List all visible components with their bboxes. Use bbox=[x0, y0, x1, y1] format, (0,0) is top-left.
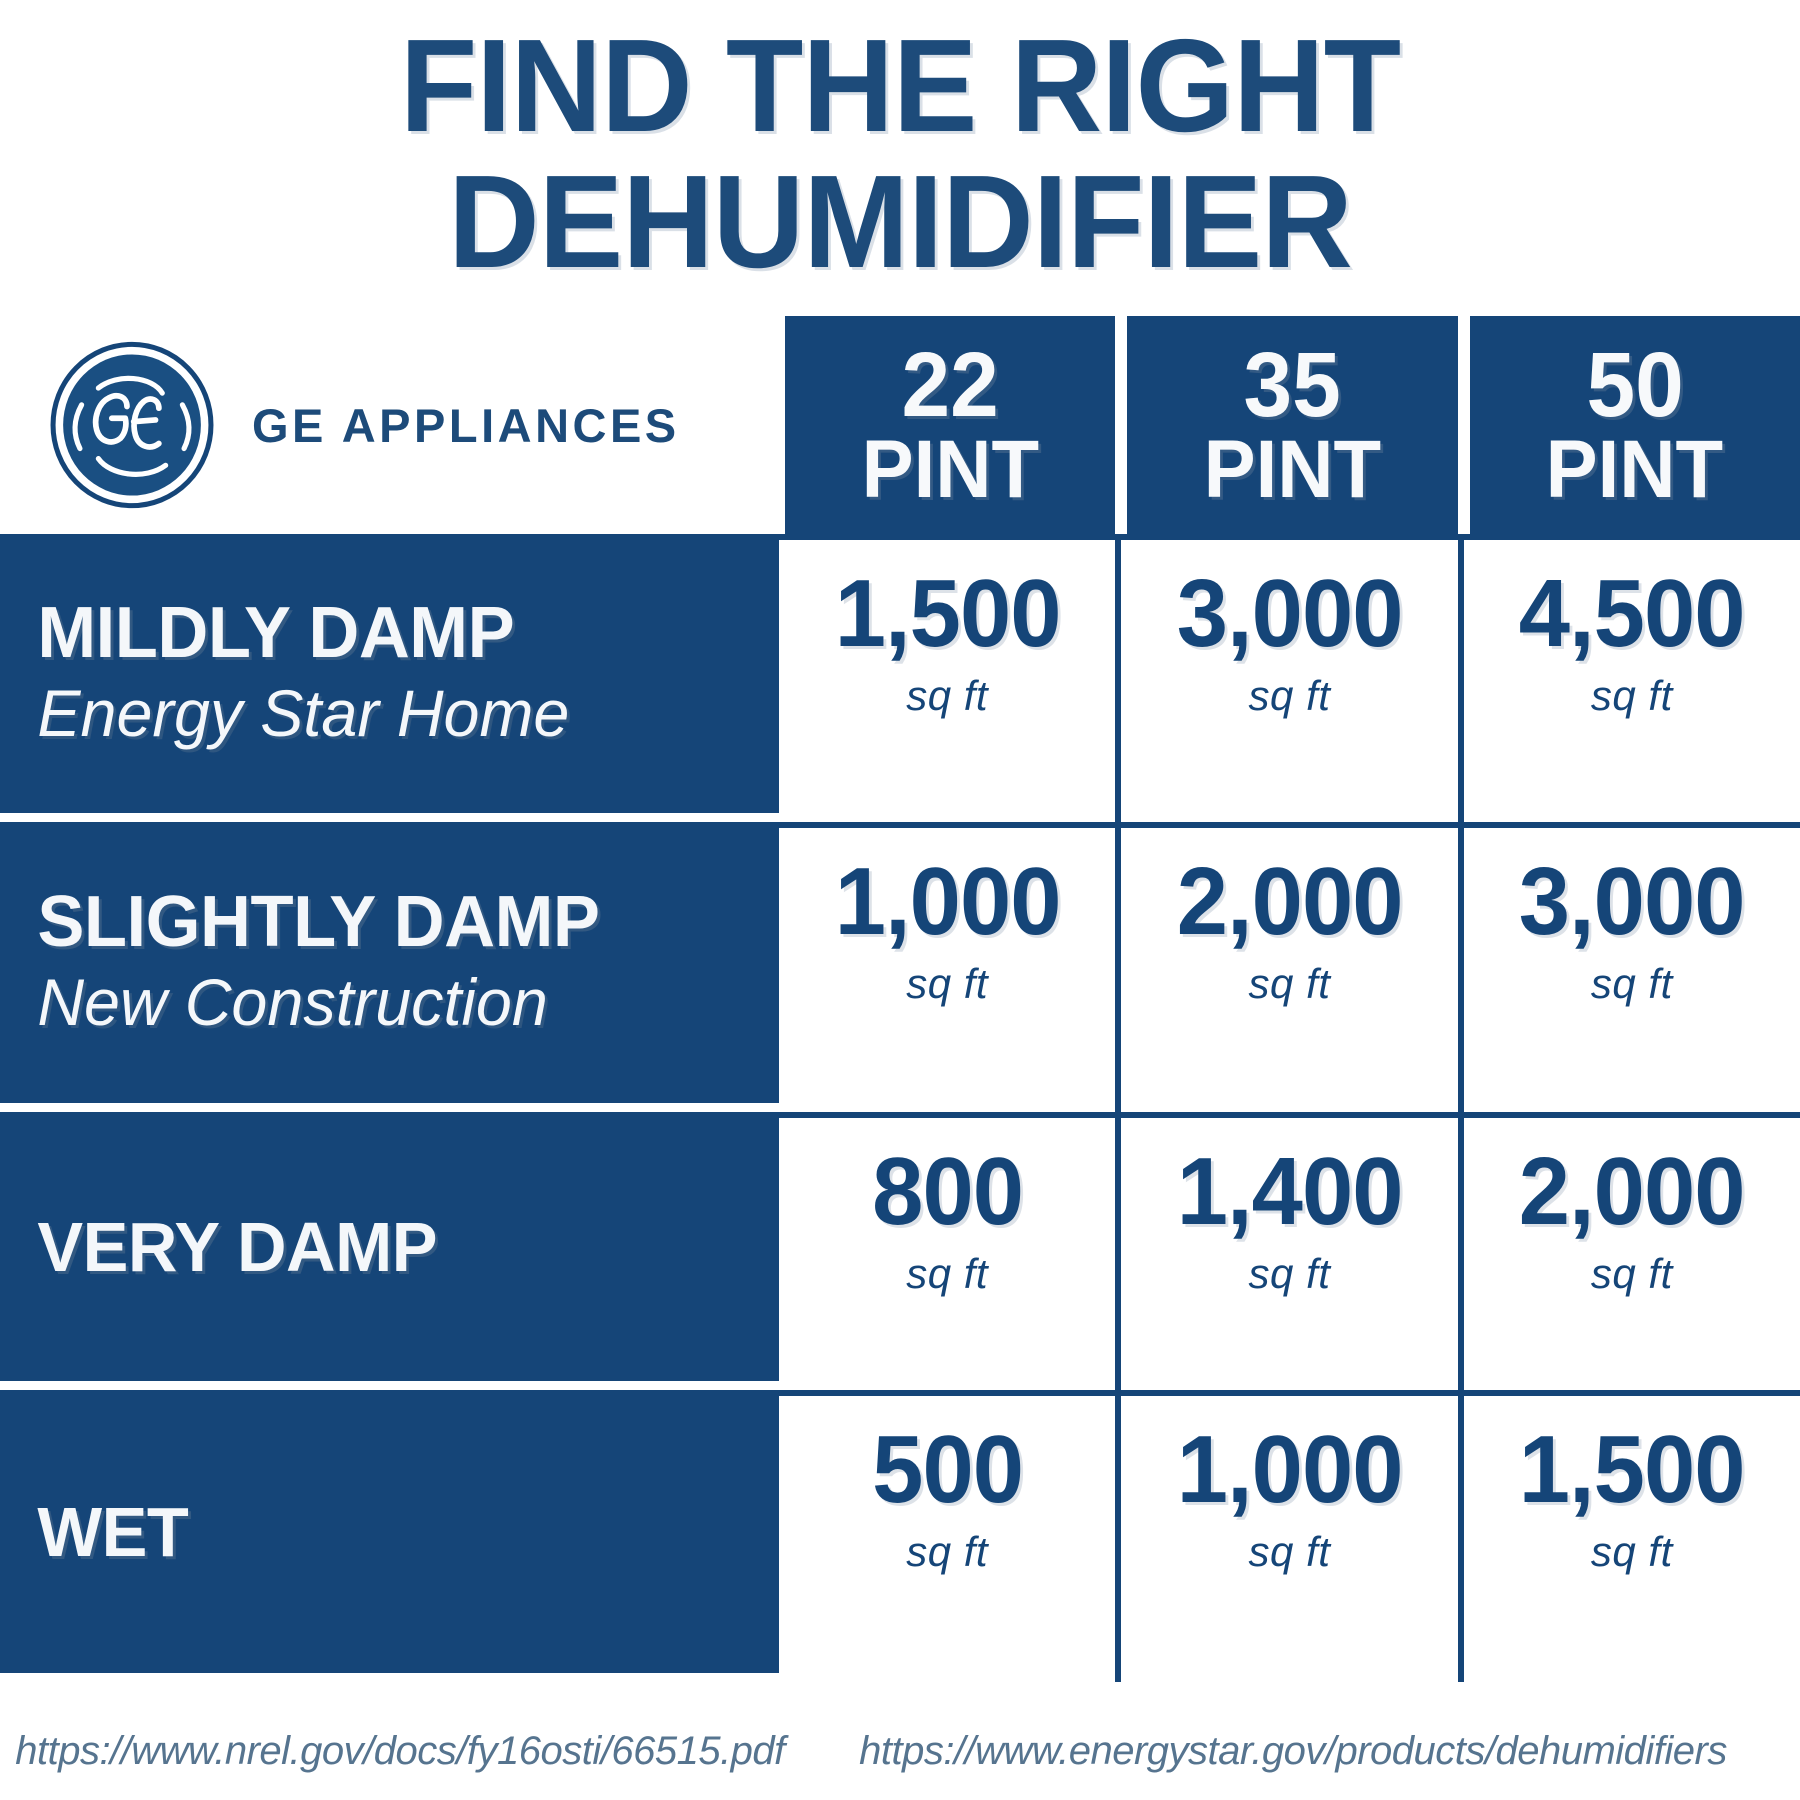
row-values-wet: 500 sq ft 1,000 sq ft 1,500 sq ft bbox=[779, 1390, 1800, 1682]
cell-unit: sq ft bbox=[1249, 1250, 1331, 1298]
cell-slightly-damp-35-pint: 2,000 sq ft bbox=[1115, 828, 1457, 1112]
cell-slightly-damp-50-pint: 3,000 sq ft bbox=[1458, 828, 1800, 1112]
row-values-slightly-damp: 1,000 sq ft 2,000 sq ft 3,000 sq ft bbox=[779, 822, 1800, 1112]
row-label-wet: WET bbox=[0, 1390, 779, 1682]
row-label-very-damp: VERY DAMP bbox=[0, 1112, 779, 1390]
cell-value: 3,000 bbox=[1177, 566, 1403, 662]
cell-value: 2,000 bbox=[1519, 1144, 1745, 1240]
cell-unit: sq ft bbox=[1591, 1528, 1673, 1576]
source-footer: https://www.nrel.gov/docs/fy16osti/66515… bbox=[0, 1729, 1800, 1774]
cell-value: 1,500 bbox=[1519, 1422, 1745, 1518]
row-values-very-damp: 800 sq ft 1,400 sq ft 2,000 sq ft bbox=[779, 1112, 1800, 1390]
table-row: WET 500 sq ft 1,000 sq ft 1,500 sq ft bbox=[0, 1390, 1800, 1682]
page-title-line-1: FIND THE RIGHT bbox=[36, 18, 1764, 154]
source-link-nrel[interactable]: https://www.nrel.gov/docs/fy16osti/66515… bbox=[0, 1729, 800, 1774]
column-header-35-pint: 35 PINT bbox=[1127, 316, 1457, 534]
source-link-energystar[interactable]: https://www.energystar.gov/products/dehu… bbox=[800, 1729, 1800, 1774]
column-header-22-pint: 22 PINT bbox=[785, 316, 1115, 534]
cell-very-damp-35-pint: 1,400 sq ft bbox=[1115, 1118, 1457, 1390]
column-header-50-pint-number: 50 bbox=[1586, 341, 1683, 430]
cell-value: 500 bbox=[872, 1422, 1023, 1518]
row-label-slightly-damp-subtitle: New Construction bbox=[37, 966, 757, 1040]
row-label-mildly-damp-title: MILDLY DAMP bbox=[37, 597, 757, 669]
cell-value: 2,000 bbox=[1177, 854, 1403, 950]
cell-unit: sq ft bbox=[1591, 1250, 1673, 1298]
cell-unit: sq ft bbox=[1249, 672, 1331, 720]
column-header-35-pint-number: 35 bbox=[1244, 341, 1341, 430]
page-title: FIND THE RIGHT DEHUMIDIFIER bbox=[0, 0, 1800, 290]
table-header-row: GE APPLIANCES 22 PINT 35 PINT 50 PINT bbox=[0, 316, 1800, 534]
cell-value: 4,500 bbox=[1519, 566, 1745, 662]
cell-unit: sq ft bbox=[906, 672, 988, 720]
cell-value: 1,400 bbox=[1177, 1144, 1403, 1240]
cell-mildly-damp-22-pint: 1,500 sq ft bbox=[779, 540, 1115, 822]
table-row: VERY DAMP 800 sq ft 1,400 sq ft 2,000 sq… bbox=[0, 1112, 1800, 1390]
cell-very-damp-50-pint: 2,000 sq ft bbox=[1458, 1118, 1800, 1390]
column-header-22-pint-unit: PINT bbox=[861, 430, 1038, 510]
column-header-50-pint-unit: PINT bbox=[1546, 430, 1723, 510]
row-label-very-damp-title: VERY DAMP bbox=[37, 1212, 757, 1282]
column-header-35-pint-unit: PINT bbox=[1204, 430, 1381, 510]
page-title-line-2: DEHUMIDIFIER bbox=[36, 154, 1764, 290]
cell-wet-22-pint: 500 sq ft bbox=[779, 1396, 1115, 1682]
column-header-22-pint-number: 22 bbox=[902, 341, 999, 430]
cell-unit: sq ft bbox=[906, 1250, 988, 1298]
cell-unit: sq ft bbox=[1249, 960, 1331, 1008]
cell-unit: sq ft bbox=[906, 1528, 988, 1576]
cell-value: 800 bbox=[872, 1144, 1023, 1240]
capacity-header-group: 22 PINT 35 PINT 50 PINT bbox=[785, 316, 1800, 534]
cell-wet-50-pint: 1,500 sq ft bbox=[1458, 1396, 1800, 1682]
brand-name: GE APPLIANCES bbox=[252, 398, 680, 453]
brand-cell: GE APPLIANCES bbox=[0, 316, 785, 534]
row-label-wet-title: WET bbox=[37, 1497, 757, 1567]
ge-monogram-icon bbox=[48, 341, 216, 509]
row-label-mildly-damp: MILDLY DAMP Energy Star Home bbox=[0, 534, 779, 822]
cell-very-damp-22-pint: 800 sq ft bbox=[779, 1118, 1115, 1390]
cell-value: 1,000 bbox=[1177, 1422, 1403, 1518]
cell-wet-35-pint: 1,000 sq ft bbox=[1115, 1396, 1457, 1682]
cell-unit: sq ft bbox=[1249, 1528, 1331, 1576]
cell-value: 1,500 bbox=[834, 566, 1060, 662]
cell-mildly-damp-50-pint: 4,500 sq ft bbox=[1458, 540, 1800, 822]
table-row: SLIGHTLY DAMP New Construction 1,000 sq … bbox=[0, 822, 1800, 1112]
cell-value: 1,000 bbox=[834, 854, 1060, 950]
cell-slightly-damp-22-pint: 1,000 sq ft bbox=[779, 828, 1115, 1112]
row-label-slightly-damp: SLIGHTLY DAMP New Construction bbox=[0, 822, 779, 1112]
cell-mildly-damp-35-pint: 3,000 sq ft bbox=[1115, 540, 1457, 822]
cell-value: 3,000 bbox=[1519, 854, 1745, 950]
table-row: MILDLY DAMP Energy Star Home 1,500 sq ft… bbox=[0, 534, 1800, 822]
row-values-mildly-damp: 1,500 sq ft 3,000 sq ft 4,500 sq ft bbox=[779, 534, 1800, 822]
cell-unit: sq ft bbox=[1591, 960, 1673, 1008]
column-header-50-pint: 50 PINT bbox=[1470, 316, 1800, 534]
dehumidifier-sizing-table: GE APPLIANCES 22 PINT 35 PINT 50 PINT MI… bbox=[0, 316, 1800, 1682]
row-label-slightly-damp-title: SLIGHTLY DAMP bbox=[37, 886, 757, 958]
cell-unit: sq ft bbox=[906, 960, 988, 1008]
row-label-mildly-damp-subtitle: Energy Star Home bbox=[37, 677, 757, 751]
cell-unit: sq ft bbox=[1591, 672, 1673, 720]
